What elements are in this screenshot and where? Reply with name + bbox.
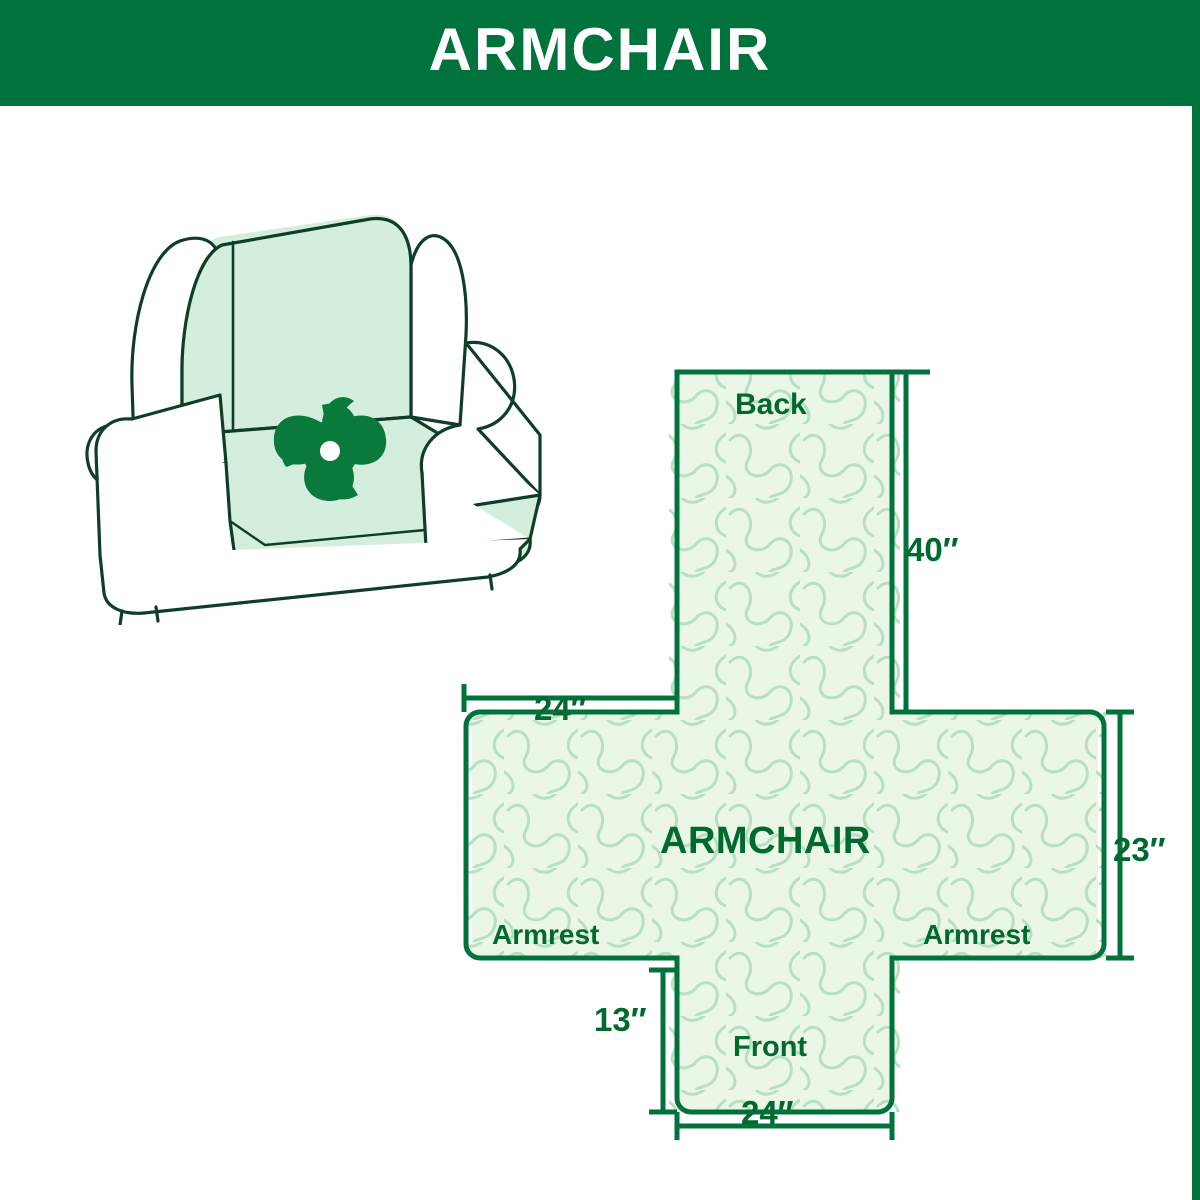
dimension-front-width: 24″ bbox=[741, 1096, 794, 1129]
label-armrest-right: Armrest bbox=[923, 921, 1030, 949]
cover-pattern-diagram bbox=[430, 350, 1170, 1140]
header-bar: ARMCHAIR bbox=[0, 0, 1200, 100]
right-border-strip bbox=[1192, 0, 1200, 1200]
label-front: Front bbox=[733, 1033, 807, 1062]
page-root: ARMCHAIR bbox=[0, 0, 1200, 1200]
label-center-armchair: ARMCHAIR bbox=[660, 822, 871, 860]
label-armrest-left: Armrest bbox=[492, 921, 599, 949]
dimension-back-width: 24″ bbox=[534, 692, 587, 725]
dimension-back-height: 40″ bbox=[906, 533, 959, 566]
page-title: ARMCHAIR bbox=[429, 20, 772, 80]
label-back: Back bbox=[735, 390, 807, 420]
header-divider bbox=[0, 100, 1200, 106]
dimension-front-height: 13″ bbox=[594, 1003, 647, 1036]
dimension-body-height: 23″ bbox=[1113, 833, 1166, 866]
